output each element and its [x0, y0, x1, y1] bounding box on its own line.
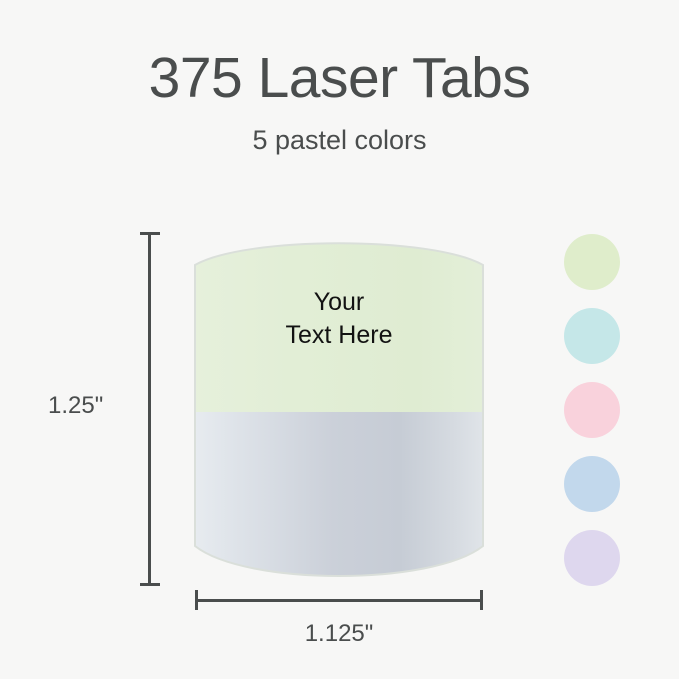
product-tab-illustration: Your Text Here	[186, 224, 492, 596]
width-dimension-cap-right	[480, 590, 483, 610]
page-subtitle: 5 pastel colors	[0, 126, 679, 156]
height-dimension-line	[140, 228, 162, 590]
width-dimension-label: 1.125"	[193, 620, 485, 648]
color-swatch-pastel-green	[564, 234, 620, 290]
tab-body	[186, 224, 492, 596]
tab-bottom-silver-band	[186, 412, 492, 596]
color-swatch-pastel-purple	[564, 530, 620, 586]
height-dimension-cap-bottom	[140, 583, 160, 586]
height-dimension-label: 1.25"	[48, 392, 134, 420]
page-title: 375 Laser Tabs	[0, 48, 679, 110]
color-swatch-list	[564, 234, 626, 584]
width-dimension-line	[193, 590, 485, 612]
color-swatch-pastel-aqua	[564, 308, 620, 364]
color-swatch-pastel-blue	[564, 456, 620, 512]
width-dimension-stem	[195, 599, 483, 602]
color-swatch-pastel-pink	[564, 382, 620, 438]
tab-shape-svg	[186, 224, 492, 596]
product-image-canvas: 375 Laser Tabs 5 pastel colors	[0, 0, 679, 679]
height-dimension-stem	[148, 232, 151, 586]
header: 375 Laser Tabs 5 pastel colors	[0, 48, 679, 155]
